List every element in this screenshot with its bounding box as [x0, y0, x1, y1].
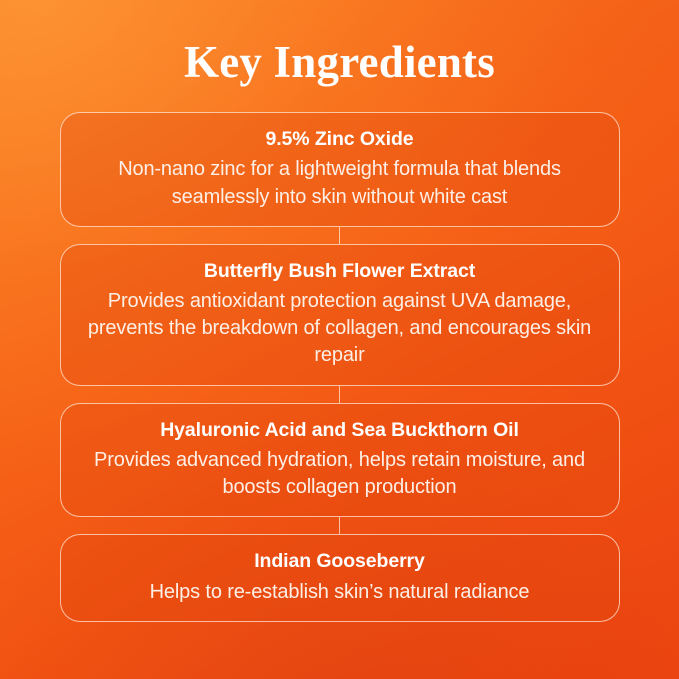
ingredient-card-list: 9.5% Zinc Oxide Non-nano zinc for a ligh…	[60, 112, 620, 622]
ingredient-card: Indian Gooseberry Helps to re-establish …	[60, 534, 620, 622]
ingredient-description: Non-nano zinc for a lightweight formula …	[87, 156, 593, 210]
ingredient-description: Helps to re-establish skin’s natural rad…	[87, 579, 593, 606]
page-title: Key Ingredients	[0, 0, 679, 85]
card-connector-line	[339, 517, 340, 534]
ingredient-description: Provides antioxidant protection against …	[87, 288, 593, 370]
ingredient-name: Hyaluronic Acid and Sea Buckthorn Oil	[87, 417, 593, 443]
ingredient-card: Hyaluronic Acid and Sea Buckthorn Oil Pr…	[60, 403, 620, 518]
key-ingredients-poster: Key Ingredients 9.5% Zinc Oxide Non-nano…	[0, 0, 679, 679]
ingredient-name: Indian Gooseberry	[87, 548, 593, 574]
card-connector-line	[339, 227, 340, 244]
ingredient-description: Provides advanced hydration, helps retai…	[87, 447, 593, 501]
ingredient-card: 9.5% Zinc Oxide Non-nano zinc for a ligh…	[60, 112, 620, 227]
card-connector-line	[339, 386, 340, 403]
ingredient-name: 9.5% Zinc Oxide	[87, 126, 593, 152]
ingredient-name: Butterfly Bush Flower Extract	[87, 258, 593, 284]
ingredient-card: Butterfly Bush Flower Extract Provides a…	[60, 244, 620, 386]
